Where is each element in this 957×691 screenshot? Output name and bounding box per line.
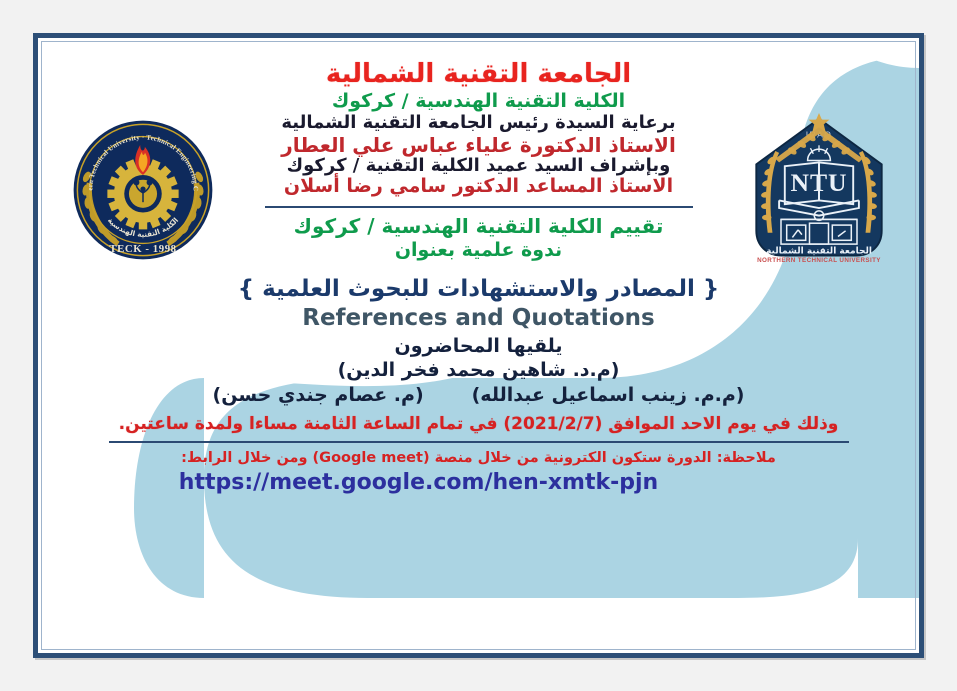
- poster-text-column: الجامعة التقنية الشمالية الكلية التقنية …: [38, 60, 919, 496]
- evaluation-line: تقييم الكلية التقنية الهندسية / كركوك: [38, 215, 919, 237]
- lecturer-name-3: (م. عصام جندي حسن): [213, 384, 424, 406]
- event-date-line: وذلك في يوم الاحد الموافق (2021/2/7) في …: [38, 415, 919, 434]
- lecturer-name-2: (م.م. زينب اسماعيل عبدالله): [472, 384, 745, 406]
- patron-intro-line: برعاية السيدة رئيس الجامعة التقنية الشما…: [38, 113, 919, 133]
- platform-note-line: ملاحظة: الدورة ستكون الكترونية من خلال م…: [38, 450, 919, 466]
- seminar-subtitle: ندوة علمية بعنوان: [38, 240, 919, 261]
- divider-upper: [265, 206, 693, 208]
- meeting-link[interactable]: https://meet.google.com/hen-xmtk-pjn: [38, 471, 919, 496]
- seminar-poster: IRAQ: [33, 33, 924, 658]
- college-name: الكلية التقنية الهندسية / كركوك: [38, 91, 919, 112]
- lecturer-row: (م.م. زينب اسماعيل عبدالله) (م. عصام جند…: [38, 384, 919, 406]
- presented-by-label: يلقيها المحاضرون: [38, 336, 919, 357]
- seminar-title-arabic: { المصادر والاستشهادات للبحوث العلمية }: [38, 277, 919, 303]
- patron-name: الاستاذ الدكتورة علياء عباس علي العطار: [38, 134, 919, 156]
- university-name: الجامعة التقنية الشمالية: [38, 60, 919, 89]
- supervisor-name: الاستاذ المساعد الدكتور سامي رضا أسلان: [38, 176, 919, 197]
- divider-lower: [109, 441, 849, 443]
- supervisor-intro-line: وبإشراف السيد عميد الكلية التقنية / كركو…: [38, 156, 919, 176]
- seminar-title-english: References and Quotations: [38, 306, 919, 332]
- lecturer-name-1: (م.د. شاهين محمد فخر الدين): [38, 360, 919, 381]
